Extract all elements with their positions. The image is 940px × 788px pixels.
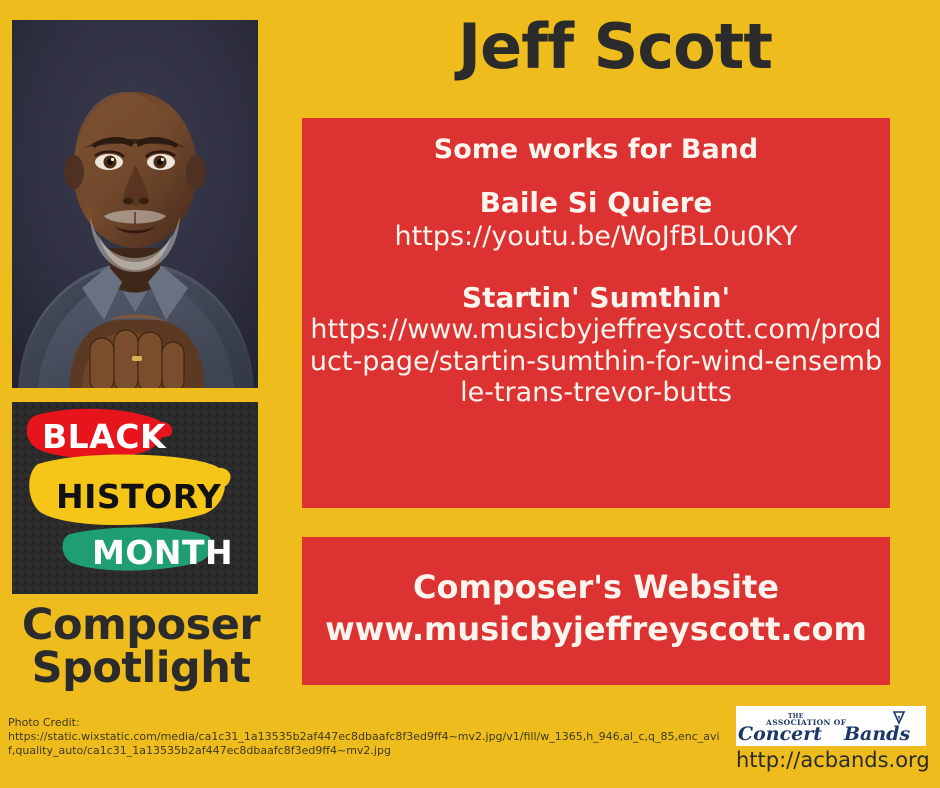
acb-logo: THE ASSOCIATION OF Concert Bands [736, 706, 926, 746]
composer-spotlight-caption: Composer Spotlight [0, 604, 282, 690]
photo-credit-url: https://static.wixstatic.com/media/ca1c3… [8, 730, 724, 758]
spotlight-line-2: Spotlight [0, 647, 282, 690]
work-url-1[interactable]: https://youtu.be/WoJfBL0u0KY [302, 221, 890, 252]
portrait-illustration [12, 20, 258, 388]
svg-text:HISTORY: HISTORY [56, 477, 222, 516]
svg-text:Bands: Bands [843, 723, 910, 745]
svg-text:MONTH: MONTH [92, 533, 233, 572]
work-title-2: Startin' Sumthin' [302, 282, 890, 314]
website-url[interactable]: www.musicbyjeffreyscott.com [302, 611, 890, 648]
composer-website-panel: Composer's Website www.musicbyjeffreysco… [302, 537, 890, 685]
organization-website-url[interactable]: http://acbands.org [736, 749, 926, 772]
composer-portrait-photo [12, 20, 258, 388]
spotlight-line-1: Composer [0, 604, 282, 647]
photo-credit: Photo Credit: https://static.wixstatic.c… [8, 716, 724, 758]
work-group-2: Startin' Sumthin' https://www.musicbyjef… [302, 282, 890, 408]
page-title: Jeff Scott [290, 16, 940, 78]
work-url-2[interactable]: https://www.musicbyjeffreyscott.com/prod… [302, 314, 890, 408]
works-heading: Some works for Band [302, 135, 890, 165]
website-heading: Composer's Website [302, 570, 890, 605]
svg-text:BLACK: BLACK [42, 417, 167, 456]
organization-logo-block: THE ASSOCIATION OF Concert Bands http://… [736, 706, 926, 772]
composer-spotlight-poster: BLACK HISTORY MONTH Composer Spotlight J… [0, 0, 940, 788]
works-panel: Some works for Band Baile Si Quiere http… [302, 118, 890, 508]
work-title-1: Baile Si Quiere [302, 187, 890, 219]
black-history-month-graphic: BLACK HISTORY MONTH [12, 402, 258, 594]
bhm-illustration: BLACK HISTORY MONTH [12, 402, 258, 594]
acb-logo-icon: THE ASSOCIATION OF Concert Bands [736, 706, 926, 746]
svg-text:Concert: Concert [738, 723, 822, 745]
photo-credit-label: Photo Credit: [8, 716, 724, 730]
